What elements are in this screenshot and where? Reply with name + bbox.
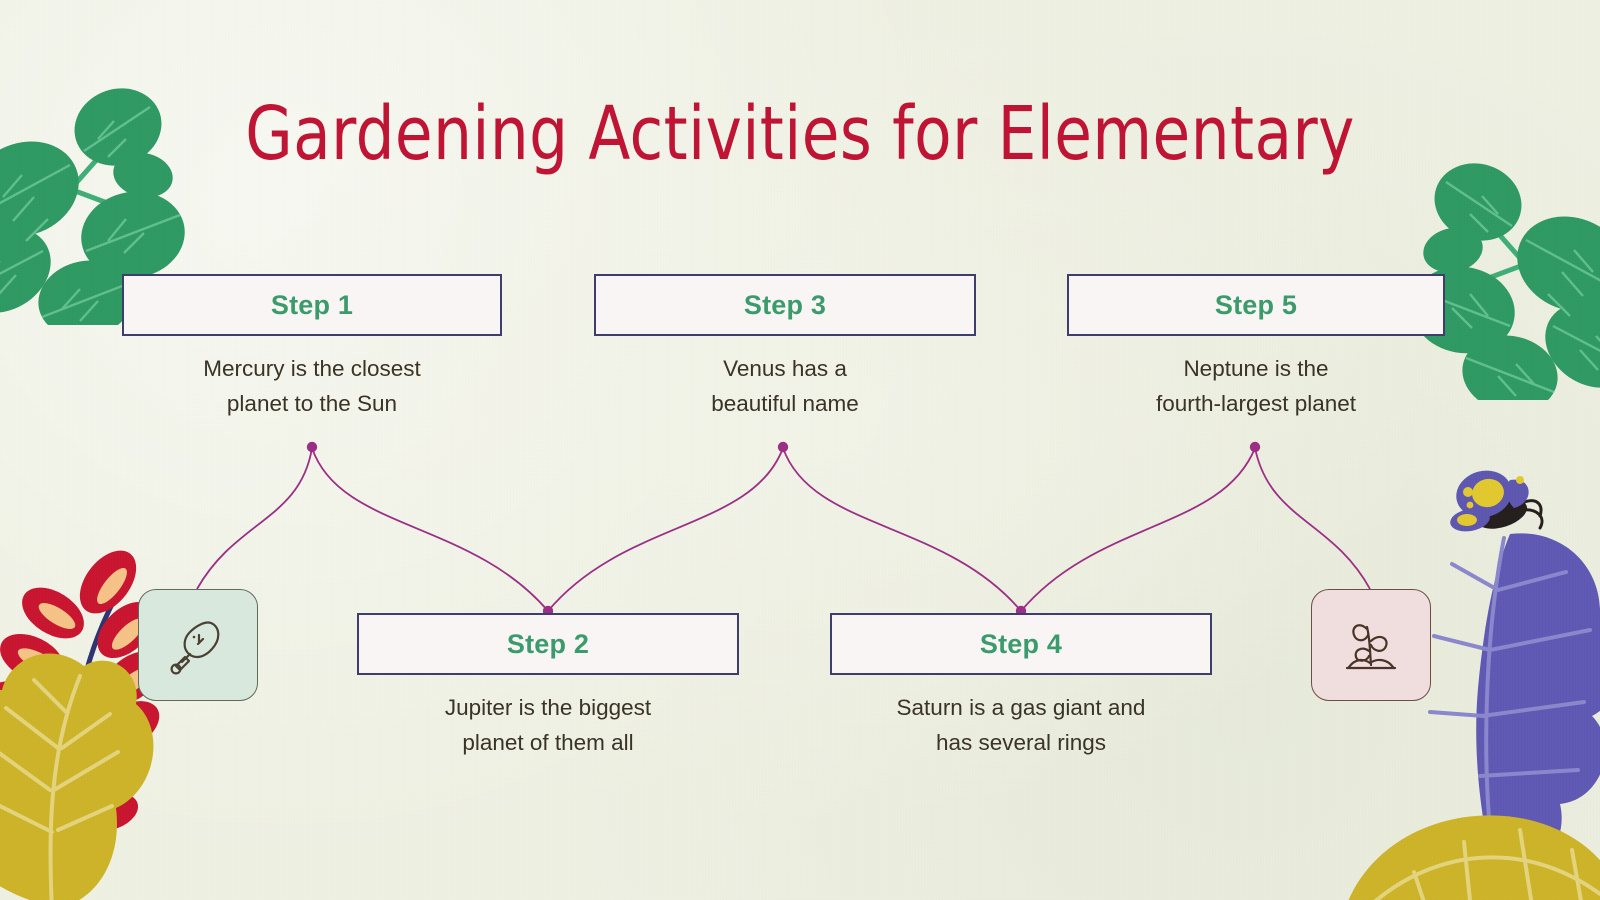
step-description-3: Venus has a beautiful name	[594, 352, 976, 422]
garden-trowel-icon	[164, 611, 232, 679]
connector-lines	[0, 0, 1600, 900]
step-description-5: Neptune is the fourth-largest planet	[1067, 352, 1445, 422]
step-card-4[interactable]: Step 4 Saturn is a gas giant and has sev…	[830, 613, 1212, 761]
step-card-2[interactable]: Step 2 Jupiter is the biggest planet of …	[357, 613, 739, 761]
seedling-sprout-icon-tile[interactable]	[1311, 589, 1431, 701]
connector-node-step-5	[1250, 442, 1260, 452]
seedling-sprout-icon	[1337, 611, 1405, 679]
step-label-3: Step 3	[744, 290, 826, 321]
step-label-5: Step 5	[1215, 290, 1297, 321]
step-box-4[interactable]: Step 4	[830, 613, 1212, 675]
slide-canvas: Gardening Activities for Elementary	[0, 0, 1600, 900]
step-label-2: Step 2	[507, 629, 589, 660]
step-card-5[interactable]: Step 5 Neptune is the fourth-largest pla…	[1067, 274, 1445, 422]
step-description-4: Saturn is a gas giant and has several ri…	[830, 691, 1212, 761]
step-box-5[interactable]: Step 5	[1067, 274, 1445, 336]
connector-node-step-1	[307, 442, 317, 452]
step-box-3[interactable]: Step 3	[594, 274, 976, 336]
connector-node-step-3	[778, 442, 788, 452]
step-card-3[interactable]: Step 3 Venus has a beautiful name	[594, 274, 976, 422]
step-box-1[interactable]: Step 1	[122, 274, 502, 336]
step-label-4: Step 4	[980, 629, 1062, 660]
step-description-1: Mercury is the closest planet to the Sun	[122, 352, 502, 422]
step-card-1[interactable]: Step 1 Mercury is the closest planet to …	[122, 274, 502, 422]
step-box-2[interactable]: Step 2	[357, 613, 739, 675]
garden-trowel-icon-tile[interactable]	[138, 589, 258, 701]
step-description-2: Jupiter is the biggest planet of them al…	[357, 691, 739, 761]
step-label-1: Step 1	[271, 290, 353, 321]
